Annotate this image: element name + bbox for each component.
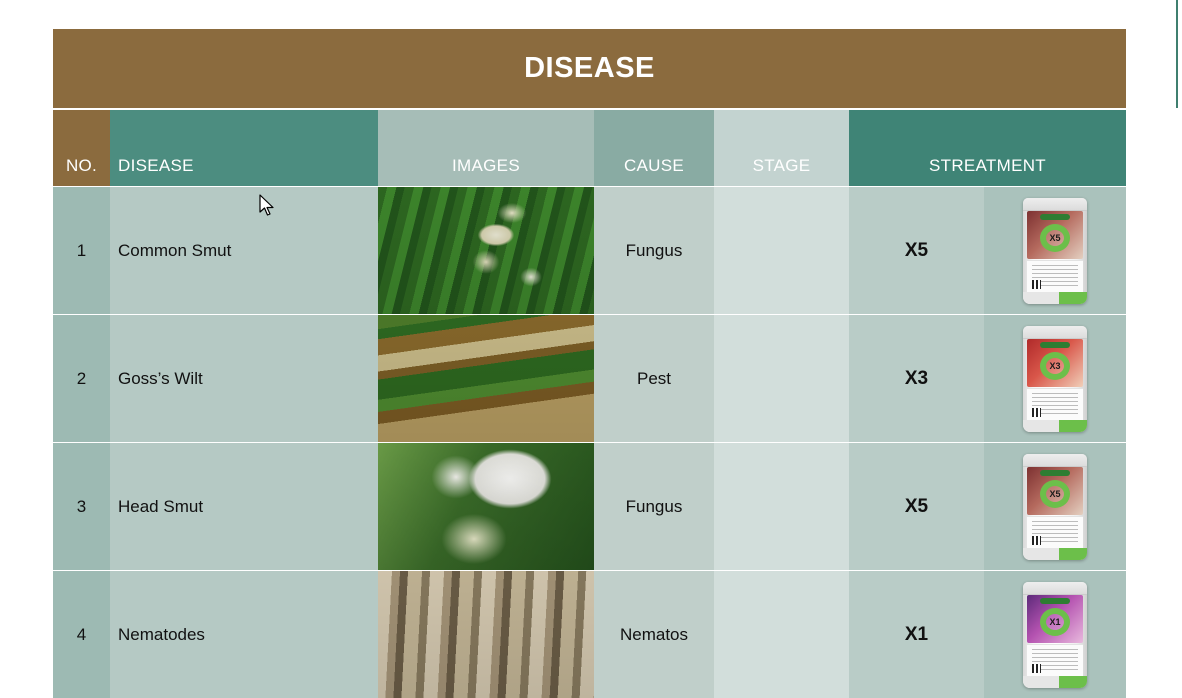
column-header-disease[interactable]: DISEASE bbox=[110, 110, 378, 186]
pouch-footer-band bbox=[1023, 420, 1087, 432]
column-header-cause[interactable]: CAUSE bbox=[594, 110, 714, 186]
column-header-streatment-label: STREATMENT bbox=[929, 156, 1046, 176]
cell-dose: X1 bbox=[849, 571, 984, 698]
cell-stage bbox=[714, 571, 849, 698]
pouch-variant-label: X5 bbox=[1049, 230, 1060, 246]
cell-no: 1 bbox=[53, 187, 110, 314]
cell-product[interactable]: X3 bbox=[984, 315, 1126, 442]
cell-image[interactable] bbox=[378, 187, 594, 314]
cell-dose: X3 bbox=[849, 315, 984, 442]
cell-cause: Fungus bbox=[594, 443, 714, 570]
cell-cause: Nematos bbox=[594, 571, 714, 698]
column-header-no[interactable]: NO. bbox=[53, 110, 110, 186]
table-row[interactable]: 3 Head Smut Fungus X5 X5 bbox=[53, 443, 1126, 570]
row-number: 2 bbox=[77, 369, 86, 389]
cell-cause: Fungus bbox=[594, 187, 714, 314]
pouch-info-label bbox=[1027, 516, 1083, 548]
pouch-info-label bbox=[1027, 644, 1083, 676]
column-header-disease-label: DISEASE bbox=[118, 156, 194, 176]
column-header-stage-label: STAGE bbox=[753, 156, 811, 176]
cause-value: Nematos bbox=[620, 625, 688, 645]
pouch-footer-band bbox=[1023, 676, 1087, 688]
pouch-info-label bbox=[1027, 260, 1083, 292]
qr-code-icon bbox=[1032, 408, 1041, 417]
pouch-brand-badge bbox=[1040, 470, 1070, 476]
cell-disease: Goss’s Wilt bbox=[110, 315, 378, 442]
dose-value: X1 bbox=[905, 624, 928, 646]
qr-code-icon bbox=[1032, 280, 1041, 289]
cause-value: Fungus bbox=[626, 241, 683, 261]
cell-stage bbox=[714, 443, 849, 570]
column-header-stage[interactable]: STAGE bbox=[714, 110, 849, 186]
column-header-streatment[interactable]: STREATMENT bbox=[849, 110, 1126, 186]
cell-image[interactable] bbox=[378, 315, 594, 442]
dose-value: X5 bbox=[905, 240, 928, 262]
disease-name: Common Smut bbox=[118, 241, 231, 261]
pouch-brand-badge bbox=[1040, 342, 1070, 348]
pouch-variant-label: X1 bbox=[1049, 614, 1060, 630]
column-header-no-label: NO. bbox=[66, 156, 97, 176]
qr-code-icon bbox=[1032, 664, 1041, 673]
table-row[interactable]: 1 Common Smut Fungus X5 X5 bbox=[53, 187, 1126, 314]
product-pouch-image: X5 bbox=[1023, 454, 1087, 560]
table-row[interactable]: 2 Goss’s Wilt Pest X3 X3 bbox=[53, 315, 1126, 442]
pouch-top-seal bbox=[1023, 454, 1087, 467]
qr-code-icon bbox=[1032, 536, 1041, 545]
disease-photo bbox=[378, 315, 594, 442]
product-pouch-image: X3 bbox=[1023, 326, 1087, 432]
pouch-brand-badge bbox=[1040, 214, 1070, 220]
pouch-top-seal bbox=[1023, 582, 1087, 595]
row-number: 4 bbox=[77, 625, 86, 645]
cell-image[interactable] bbox=[378, 443, 594, 570]
cause-value: Pest bbox=[637, 369, 671, 389]
cell-disease: Nematodes bbox=[110, 571, 378, 698]
dose-value: X3 bbox=[905, 368, 928, 390]
cell-cause: Pest bbox=[594, 315, 714, 442]
disease-title-banner: DISEASE bbox=[53, 29, 1126, 108]
pouch-info-label bbox=[1027, 388, 1083, 420]
pouch-variant-label: X5 bbox=[1049, 486, 1060, 502]
row-number: 3 bbox=[77, 497, 86, 517]
cell-disease: Head Smut bbox=[110, 443, 378, 570]
cell-stage bbox=[714, 315, 849, 442]
disease-name: Goss’s Wilt bbox=[118, 369, 203, 389]
pouch-brand-badge bbox=[1040, 598, 1070, 604]
pouch-top-seal bbox=[1023, 326, 1087, 339]
cell-no: 3 bbox=[53, 443, 110, 570]
cell-disease: Common Smut bbox=[110, 187, 378, 314]
disease-table-sheet: DISEASE NO. DISEASE IMAGES CAUSE STAGE S… bbox=[53, 29, 1126, 698]
cell-product[interactable]: X1 bbox=[984, 571, 1126, 698]
cell-image[interactable] bbox=[378, 571, 594, 698]
cell-no: 2 bbox=[53, 315, 110, 442]
cell-stage bbox=[714, 187, 849, 314]
column-header-images-label: IMAGES bbox=[452, 156, 520, 176]
pouch-footer-band bbox=[1023, 292, 1087, 304]
pouch-top-seal bbox=[1023, 198, 1087, 211]
cell-product[interactable]: X5 bbox=[984, 187, 1126, 314]
product-pouch-image: X1 bbox=[1023, 582, 1087, 688]
right-edge-rule bbox=[1176, 0, 1178, 108]
disease-photo bbox=[378, 571, 594, 698]
disease-photo bbox=[378, 187, 594, 314]
cell-dose: X5 bbox=[849, 443, 984, 570]
pouch-variant-label: X3 bbox=[1049, 358, 1060, 374]
row-number: 1 bbox=[77, 241, 86, 261]
column-header-cause-label: CAUSE bbox=[624, 156, 684, 176]
table-row[interactable]: 4 Nematodes Nematos X1 X1 bbox=[53, 571, 1126, 698]
pouch-footer-band bbox=[1023, 548, 1087, 560]
disease-name: Nematodes bbox=[118, 625, 205, 645]
cell-no: 4 bbox=[53, 571, 110, 698]
table-header-row: NO. DISEASE IMAGES CAUSE STAGE STREATMEN… bbox=[53, 110, 1126, 186]
column-header-images[interactable]: IMAGES bbox=[378, 110, 594, 186]
cell-dose: X5 bbox=[849, 187, 984, 314]
page-title: DISEASE bbox=[524, 52, 655, 85]
disease-name: Head Smut bbox=[118, 497, 203, 517]
dose-value: X5 bbox=[905, 496, 928, 518]
disease-photo bbox=[378, 443, 594, 570]
cause-value: Fungus bbox=[626, 497, 683, 517]
cell-product[interactable]: X5 bbox=[984, 443, 1126, 570]
product-pouch-image: X5 bbox=[1023, 198, 1087, 304]
